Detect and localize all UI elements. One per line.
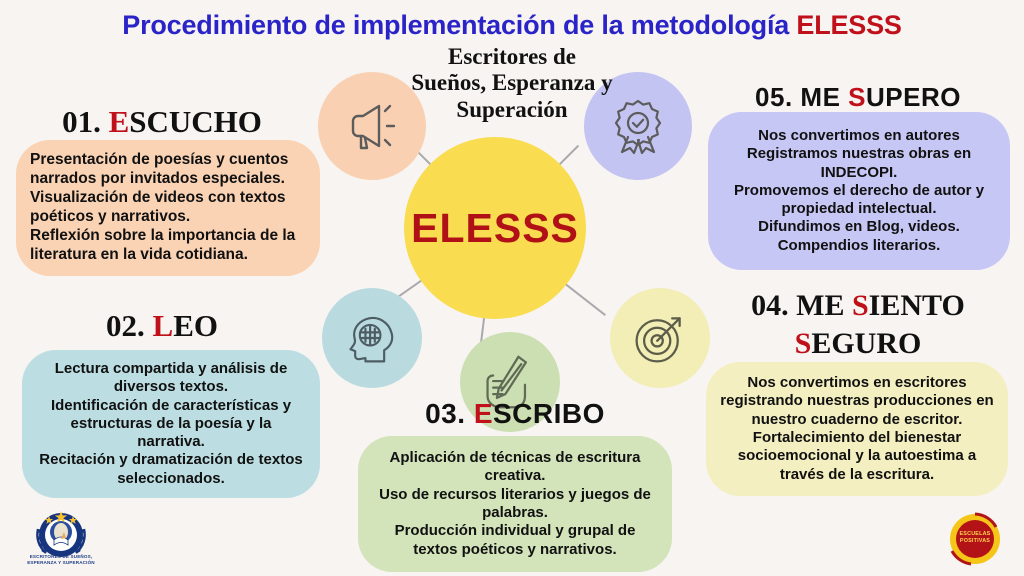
page-title-prefix: Procedimiento de implementación de la me… (122, 10, 796, 40)
step-name-02: EO (173, 308, 218, 343)
step-name-03: SCRIBO (493, 398, 605, 429)
step-body-text-03: Aplicación de técnicas de escritura crea… (372, 449, 658, 559)
escritores-de-suenos-logo (10, 505, 112, 573)
step-heading-02: 02. LEO (12, 308, 312, 344)
center-hub: ELESSS (404, 137, 586, 319)
step-name-05: UPERO (866, 82, 961, 112)
step-accent-letter-01: E (109, 104, 130, 139)
step-heading-05: 05. ME SUPERO (700, 82, 1016, 113)
page-title: Procedimiento de implementación de la me… (0, 10, 1024, 41)
step-body-02: Lectura compartida y análisis de diverso… (22, 350, 320, 498)
step-number-01: 01. (62, 104, 101, 139)
step-body-text-04: Nos convertimos en escritores registrand… (720, 374, 994, 484)
head-brain-icon (343, 309, 401, 367)
step-accent-letter-02: L (153, 308, 174, 343)
step-heading-01: 01. ESCUCHO (12, 104, 312, 140)
step-body-text-02: Lectura compartida y análisis de diverso… (36, 360, 306, 488)
step-number-02: 02. (106, 308, 145, 343)
step-name-04: IENTO (869, 289, 965, 322)
infographic-canvas: Procedimiento de implementación de la me… (0, 0, 1024, 576)
step-name-01: SCUCHO (129, 104, 262, 139)
step-heading-04-line2: SEGURO (700, 325, 1016, 363)
step-accent-letter-04b: S (795, 327, 812, 360)
step-heading-03: 03. ESCRIBO (360, 398, 670, 430)
step-body-text-05: Nos convertimos en autores Registramos n… (722, 127, 996, 255)
page-subtitle: Escritores deSueños, Esperanza ySuperaci… (332, 44, 692, 123)
step-heading-04-line1: 04. ME SIENTO (700, 287, 1016, 325)
page-title-accent: ELESSS (796, 10, 901, 40)
hub-label: ELESSS (411, 205, 579, 252)
step-prefix-04: ME (796, 289, 852, 322)
icon-circle-leo (322, 288, 422, 388)
step-body-04: Nos convertimos en escritores registrand… (706, 362, 1008, 496)
escuelas-positivas-logo-caption: ESCUELASPOSITIVAS (944, 531, 1006, 545)
step-accent-letter-03: E (474, 398, 493, 429)
step-body-text-01: Presentación de poesías y cuentos narrad… (30, 151, 306, 264)
step-number-05: 05. (755, 82, 793, 112)
step-prefix-05: ME (800, 82, 848, 112)
step-heading-04: 04. ME SIENTO SEGURO (700, 287, 1016, 362)
icon-circle-me-siento-seguro (610, 288, 710, 388)
target-arrow-icon (631, 309, 689, 367)
step-accent-letter-04: S (852, 289, 869, 322)
step-body-03: Aplicación de técnicas de escritura crea… (358, 436, 672, 572)
step-body-05: Nos convertimos en autores Registramos n… (708, 112, 1010, 270)
step-name-04b: EGURO (811, 327, 921, 360)
step-body-01: Presentación de poesías y cuentos narrad… (16, 140, 320, 276)
step-accent-letter-05: S (848, 82, 866, 112)
step-number-04: 04. (751, 289, 789, 322)
step-number-03: 03. (425, 398, 465, 429)
